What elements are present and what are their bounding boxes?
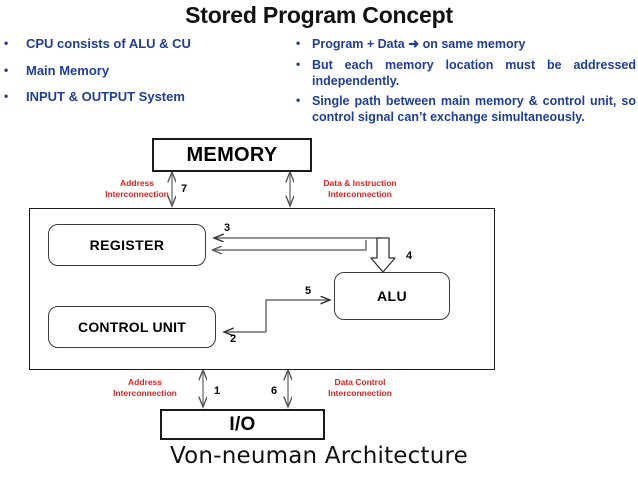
memory-block: MEMORY xyxy=(152,138,312,172)
arrow-number-1: 1 xyxy=(214,385,220,397)
arrow-number-2: 2 xyxy=(230,333,236,345)
arrow-number-7: 7 xyxy=(181,183,187,195)
list-item-label: Single path between main memory & contro… xyxy=(312,93,636,125)
list-item: • But each memory location must be addre… xyxy=(296,57,636,89)
label-line-1: Data Control xyxy=(300,377,420,388)
arrow-number-4: 4 xyxy=(406,250,412,262)
arrow-number-6: 6 xyxy=(271,385,277,397)
list-item: • CPU consists of ALU & CU xyxy=(4,36,290,53)
list-item: • Main Memory xyxy=(4,63,290,80)
label-line-1: Address xyxy=(82,178,192,189)
label-data-control-interconnection: Data Control Interconnection xyxy=(300,377,420,398)
slide-canvas: Stored Program Concept • CPU consists of… xyxy=(0,0,638,478)
list-item-label: Main Memory xyxy=(26,63,290,80)
list-item: • INPUT & OUTPUT System xyxy=(4,89,290,106)
bullet-dot-icon: • xyxy=(296,93,312,108)
bullet-dot-icon: • xyxy=(4,36,26,51)
right-arrow-icon: ➜ xyxy=(408,36,419,51)
list-item-label: CPU consists of ALU & CU xyxy=(26,36,290,53)
bullet-dot-icon: • xyxy=(4,89,26,104)
left-bullet-list: • CPU consists of ALU & CU • Main Memory… xyxy=(4,36,290,116)
list-item-label: But each memory location must be address… xyxy=(312,57,636,89)
list-item: • Program + Data ➜ on same memory xyxy=(296,36,636,53)
label-line-2: Interconnection xyxy=(82,189,192,200)
bullet-dot-icon: • xyxy=(296,36,312,51)
label-address-interconnection-top: Address Interconnection xyxy=(82,178,192,199)
list-item-label: Program + Data ➜ on same memory xyxy=(312,36,636,53)
label-line-2: Interconnection xyxy=(300,189,420,200)
list-item-label-pre: Program + Data xyxy=(312,37,408,51)
bullet-dot-icon: • xyxy=(296,57,312,72)
page-title: Stored Program Concept xyxy=(0,2,638,29)
control-unit-block: CONTROL UNIT xyxy=(48,306,216,348)
io-block: I/O xyxy=(160,409,325,440)
list-item-label: INPUT & OUTPUT System xyxy=(26,89,290,106)
label-line-1: Address xyxy=(90,377,200,388)
label-address-interconnection-bottom: Address Interconnection xyxy=(90,377,200,398)
label-line-2: Interconnection xyxy=(300,388,420,399)
register-block: REGISTER xyxy=(48,224,206,266)
right-bullet-list: • Program + Data ➜ on same memory • But … xyxy=(296,36,636,129)
arrow-number-3: 3 xyxy=(224,222,230,234)
list-item-label-post: on same memory xyxy=(419,37,525,51)
diagram-caption: Von-neuman Architecture xyxy=(0,443,638,469)
arrow-number-5: 5 xyxy=(305,285,311,297)
label-line-1: Data & Instruction xyxy=(300,178,420,189)
bullet-dot-icon: • xyxy=(4,63,26,78)
label-data-instruction-interconnection: Data & Instruction Interconnection xyxy=(300,178,420,199)
label-line-2: Interconnection xyxy=(90,388,200,399)
list-item: • Single path between main memory & cont… xyxy=(296,93,636,125)
alu-block: ALU xyxy=(334,272,450,320)
